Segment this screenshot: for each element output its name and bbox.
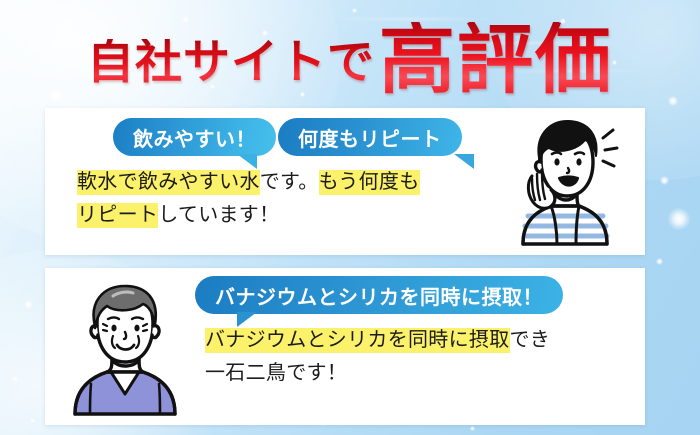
plain-phrase: しています！	[158, 204, 279, 226]
plain-phrase: です。	[260, 171, 319, 193]
body-line: 軟水で飲みやすい水です。もう何度も	[77, 166, 420, 199]
tag-bubble-easy-to-drink: 飲みやすい！	[113, 118, 276, 156]
sparkle-dot	[300, 92, 305, 97]
sparkle-dot	[668, 96, 678, 106]
plain-phrase: でき	[510, 329, 551, 351]
highlighted-phrase: 軟水で飲みやすい水	[77, 170, 260, 195]
highlighted-phrase: もう何度も	[319, 170, 420, 195]
sparkle-dot	[660, 176, 669, 185]
young-man-avatar	[499, 116, 631, 248]
promo-banner: 自社サイトで高評価 飲みやすい！ 何度もリピート 軟水で飲みやすい水です。もう何…	[0, 0, 700, 435]
sparkle-dot	[48, 88, 64, 104]
testimonial-card-one: 飲みやすい！ 何度もリピート 軟水で飲みやすい水です。もう何度も リピートしてい…	[45, 108, 645, 255]
body-line: バナジウムとシリカを同時に摂取でき	[205, 324, 550, 357]
sparkle-dot	[352, 8, 357, 13]
older-person-avatar	[57, 278, 193, 416]
tag-bubble-label: バナジウムとシリカを同時に摂取！	[215, 281, 543, 310]
sparkle-dot	[30, 418, 35, 423]
testimonial-body-two: バナジウムとシリカを同時に摂取でき 一石二鳥です！	[205, 324, 550, 390]
sparkle-dot	[12, 376, 18, 382]
speech-tail-icon	[454, 154, 474, 169]
tag-bubble-repeat: 何度もリピート	[278, 118, 462, 156]
testimonial-card-two: バナジウムとシリカを同時に摂取！ バナジウムとシリカを同時に摂取でき 一石二鳥で…	[45, 268, 645, 425]
highlighted-phrase: リピート	[77, 203, 158, 228]
tag-bubble-vanadium-silica: バナジウムとシリカを同時に摂取！	[195, 276, 563, 314]
sparkle-dot	[668, 208, 690, 230]
tag-bubble-label: 何度もリピート	[298, 123, 442, 152]
sparkle-dot	[470, 426, 475, 431]
headline-lead: 自社サイトで	[87, 39, 375, 86]
plain-phrase: 一石二鳥です！	[205, 362, 347, 384]
sparkle-dot	[24, 300, 33, 309]
sparkle-dot	[656, 258, 663, 265]
body-line: リピートしています！	[77, 199, 420, 232]
headline: 自社サイトで高評価	[0, 14, 700, 90]
headline-emphasis: 高評価	[379, 22, 613, 98]
body-line: 一石二鳥です！	[205, 357, 550, 390]
tag-bubble-label: 飲みやすい！	[133, 123, 256, 152]
testimonial-body-one: 軟水で飲みやすい水です。もう何度も リピートしています！	[77, 166, 420, 232]
highlighted-phrase: バナジウムとシリカを同時に摂取	[205, 328, 510, 353]
